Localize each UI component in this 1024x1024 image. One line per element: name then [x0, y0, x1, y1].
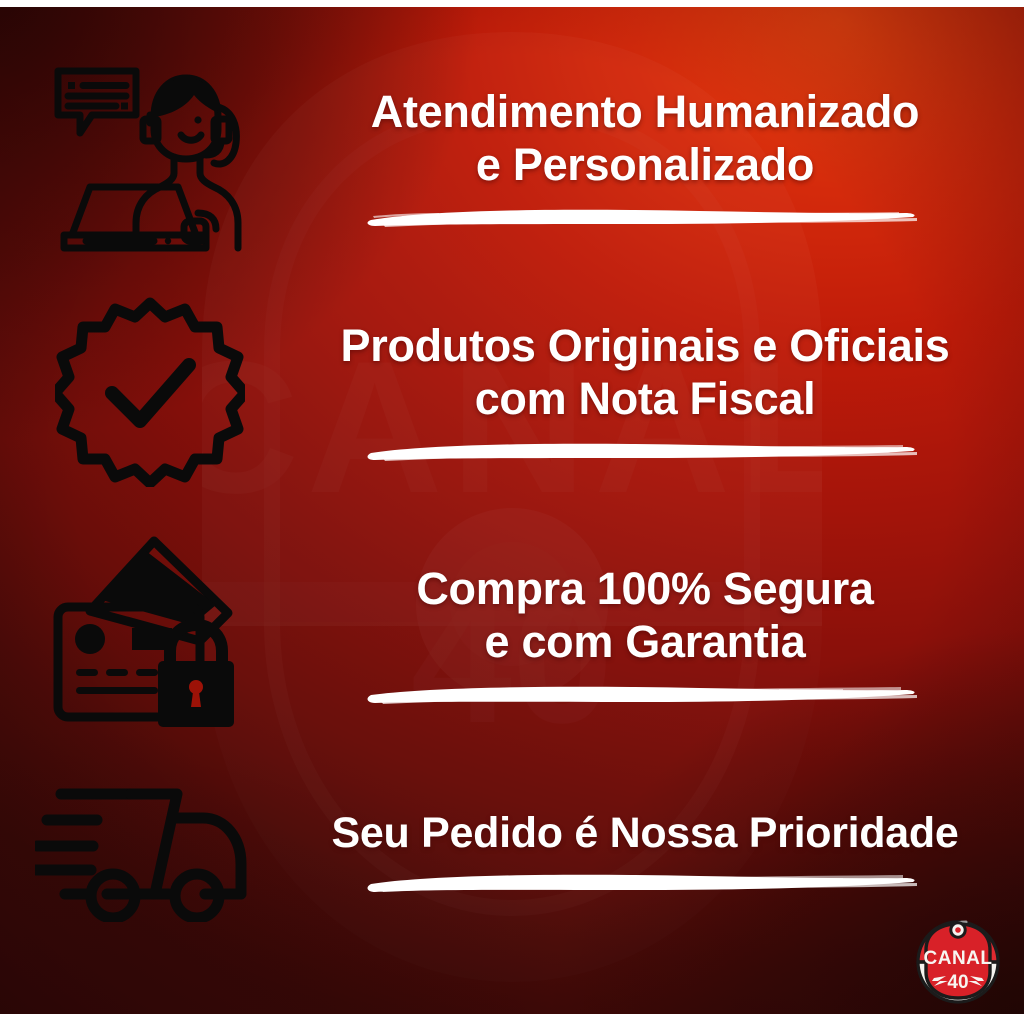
- fast-delivery-truck-icon: [0, 782, 300, 922]
- logo-line-canal: CANAL: [924, 948, 993, 969]
- feature-body-priority-delivery: Seu Pedido é Nossa Prioridade: [300, 808, 1024, 896]
- feature-text-support: Atendimento Humanizado e Personalizado: [371, 86, 919, 191]
- brush-underline-1: [365, 204, 925, 230]
- brush-underline-3: [365, 681, 925, 707]
- feature-row-secure-purchase: Compra 100% Segura e com Garantia: [0, 530, 1024, 740]
- feature-body-original-products: Produtos Originais e Oficiais com Nota F…: [300, 320, 1024, 463]
- feature-text-original-products: Produtos Originais e Oficiais com Nota F…: [341, 320, 950, 425]
- support-agent-headset-laptop-icon: [0, 63, 300, 253]
- canal-40-pokeball-logo[interactable]: CANAL 40: [906, 902, 1010, 1006]
- credit-card-padlock-icon: [0, 535, 300, 735]
- logo-line-40: 40: [947, 972, 968, 993]
- verified-badge-check-icon: [0, 297, 300, 487]
- promo-banner: CANAL 40: [0, 0, 1024, 1024]
- feature-body-support: Atendimento Humanizado e Personalizado: [300, 86, 1024, 229]
- feature-row-support: Atendimento Humanizado e Personalizado: [0, 58, 1024, 258]
- feature-text-priority-delivery: Seu Pedido é Nossa Prioridade: [332, 808, 959, 858]
- feature-row-original-products: Produtos Originais e Oficiais com Nota F…: [0, 292, 1024, 492]
- brush-underline-4: [365, 870, 925, 896]
- brush-underline-2: [365, 438, 925, 464]
- feature-text-secure-purchase: Compra 100% Segura e com Garantia: [416, 563, 873, 668]
- feature-row-priority-delivery: Seu Pedido é Nossa Prioridade: [0, 772, 1024, 932]
- feature-body-secure-purchase: Compra 100% Segura e com Garantia: [300, 563, 1024, 706]
- feature-list: Atendimento Humanizado e Personalizado: [0, 0, 1024, 1024]
